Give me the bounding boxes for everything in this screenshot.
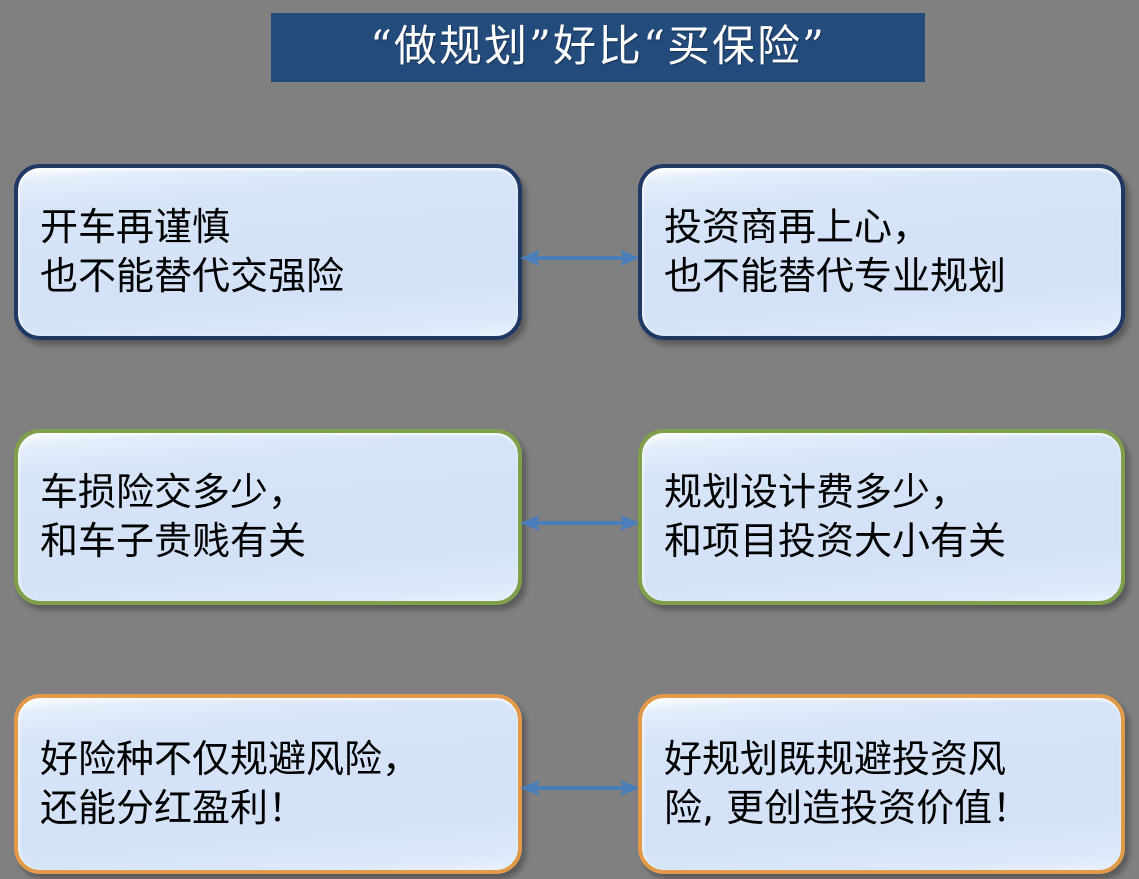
comparison-box-text: 开车再谨慎 也不能替代交强险 [40, 203, 344, 300]
slide-title-banner: “做规划”好比“买保险” [271, 13, 925, 82]
comparison-box-planning-1[interactable]: 投资商再上心， 也不能替代专业规划 [638, 164, 1125, 340]
double-headed-arrow-icon [518, 243, 642, 273]
comparison-box-planning-2[interactable]: 规划设计费多少， 和项目投资大小有关 [638, 429, 1125, 605]
comparison-box-insurance-2[interactable]: 车损险交多少， 和车子贵贱有关 [14, 429, 522, 605]
connector-arrow-row-2 [518, 508, 642, 538]
double-headed-arrow-icon [518, 508, 642, 538]
comparison-box-insurance-3[interactable]: 好险种不仅规避风险， 还能分红盈利！ [14, 694, 522, 874]
connector-arrow-row-1 [518, 243, 642, 273]
comparison-box-text: 好险种不仅规避风险， 还能分红盈利！ [40, 735, 420, 832]
comparison-box-planning-3[interactable]: 好规划既规避投资风 险, 更创造投资价值！ [638, 694, 1125, 874]
comparison-box-text: 规划设计费多少， 和项目投资大小有关 [664, 468, 1006, 565]
page-title: “做规划”好比“买保险” [370, 26, 826, 69]
comparison-box-insurance-1[interactable]: 开车再谨慎 也不能替代交强险 [14, 164, 522, 340]
comparison-box-text: 投资商再上心， 也不能替代专业规划 [664, 203, 1006, 300]
comparison-box-text: 车损险交多少， 和车子贵贱有关 [40, 468, 306, 565]
double-headed-arrow-icon [518, 773, 642, 803]
connector-arrow-row-3 [518, 773, 642, 803]
comparison-box-text: 好规划既规避投资风 险, 更创造投资价值！ [664, 735, 1030, 832]
